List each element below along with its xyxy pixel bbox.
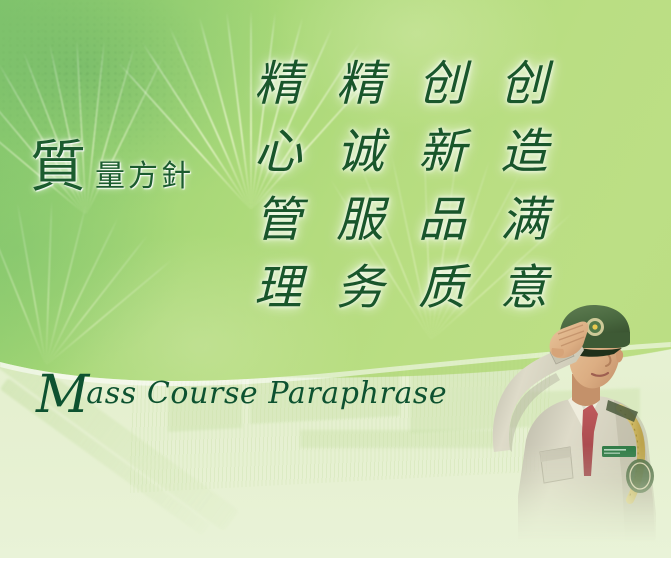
slogan-char: 品 (416, 191, 468, 249)
slogan-char: 创 (416, 55, 468, 113)
page-title-rest: 量方針 (95, 162, 194, 192)
bottom-white-strip (0, 558, 671, 566)
slogan-char: 诚 (334, 123, 386, 181)
english-slogan: Mass Course Paraphrase (36, 374, 447, 415)
slogan-column-3: 创 新 品 质 (416, 55, 468, 317)
slogan-char: 精 (334, 55, 386, 113)
english-slogan-text: ass Course Paraphrase (86, 376, 447, 411)
english-slogan-dropcap: M (36, 365, 88, 425)
slogan-char: 精 (252, 55, 304, 113)
slogan-char: 服 (334, 191, 386, 249)
page-title: 質 量方針 (30, 140, 194, 196)
slogan-char: 质 (416, 259, 468, 317)
page-title-lead-character: 質 (30, 140, 86, 196)
slogan-char: 新 (416, 123, 468, 181)
slogan-char: 管 (252, 191, 304, 249)
slogan-column-2: 精 诚 服 务 (334, 55, 386, 317)
saluting-officer-photo (488, 300, 671, 558)
slogan-column-1: 精 心 管 理 (252, 55, 304, 317)
quality-policy-poster: 質 量方針 精 心 管 理 精 诚 服 务 创 新 品 质 创 造 满 意 (0, 0, 671, 566)
name-badge (602, 446, 636, 457)
slogan-char: 务 (334, 259, 386, 317)
slogan-char: 理 (252, 259, 304, 317)
slogan-char: 心 (252, 123, 304, 181)
slogan-character-grid: 精 心 管 理 精 诚 服 务 创 新 品 质 创 造 满 意 (252, 55, 550, 317)
slogan-char: 满 (498, 191, 550, 249)
slogan-char: 造 (498, 123, 550, 181)
slogan-char: 创 (498, 55, 550, 113)
slogan-column-4: 创 造 满 意 (498, 55, 550, 317)
